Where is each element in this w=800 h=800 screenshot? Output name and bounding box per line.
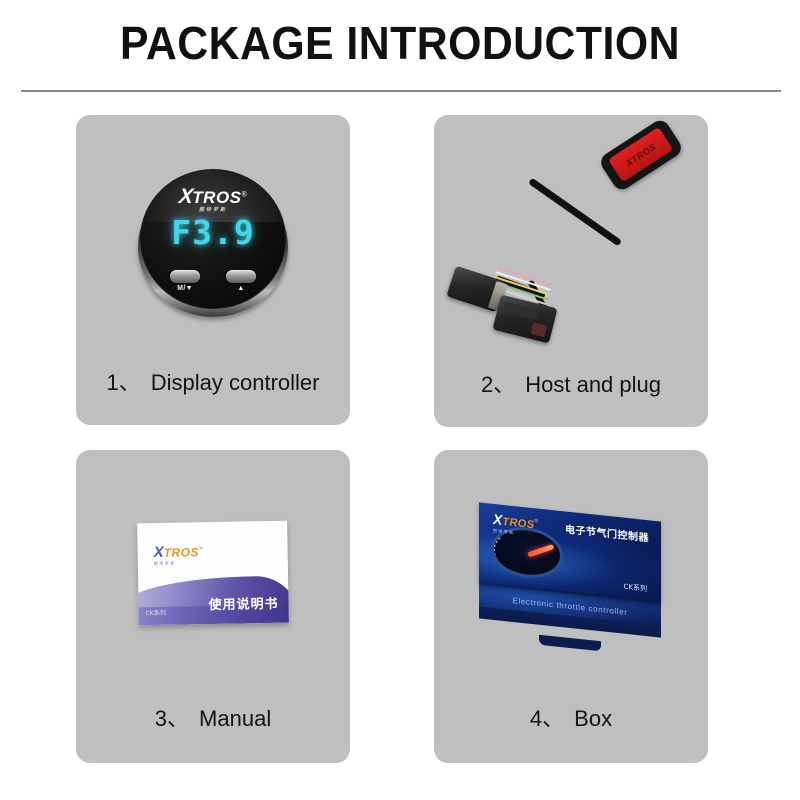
manual-brand-logo: XTROS® 图特罗斯 (154, 544, 203, 566)
package-item-2-caption: 2、Host and plug (434, 367, 708, 399)
page-header: PACKAGE INTRODUCTION (0, 0, 800, 92)
manual-series-code: CK系列 (146, 608, 166, 617)
display-controller-photo: XTROS® 图特罗斯 F3.9 M/▼ (76, 115, 350, 355)
package-item-2-host-and-plug: XTROS 2、Host and plug (434, 115, 708, 427)
mode-down-button-label: M/▼ (170, 285, 200, 292)
brand-name: TROS (192, 188, 241, 207)
package-item-1-caption: 1、Display controller (76, 365, 350, 397)
controller-brand-logo: XTROS® 图特罗斯 (141, 186, 285, 215)
manual-brand-subtitle: 图特罗斯 (154, 561, 203, 566)
package-item-3-number: 3、 (155, 706, 189, 731)
up-button-cap (226, 270, 256, 283)
mode-down-button-cap (170, 270, 200, 283)
mode-down-button[interactable]: M/▼ (170, 270, 200, 292)
package-item-3-label: Manual (199, 706, 271, 731)
package-item-2-label: Host and plug (525, 372, 661, 397)
dial-face: XTROS® 图特罗斯 F3.9 M/▼ (140, 169, 286, 309)
manual-brand-x-mark: X (153, 544, 163, 561)
package-item-1-display-controller: XTROS® 图特罗斯 F3.9 M/▼ (76, 115, 350, 425)
manual-booklet: XTROS® 图特罗斯 使用说明书 CK系列 (137, 521, 289, 626)
host-module-brand: XTROS (624, 141, 658, 168)
main-cable (528, 178, 622, 247)
retail-box-photo: Electronic throttle controller (434, 450, 708, 690)
connector-plug-b-ridge (503, 302, 538, 320)
title-divider (21, 90, 781, 92)
registered-mark-icon: ® (242, 191, 248, 198)
package-item-4-label: Box (574, 706, 612, 731)
package-item-3-caption: 3、Manual (76, 701, 350, 733)
package-item-1-label: Display controller (151, 370, 320, 395)
box-brand-x-mark: X (493, 511, 502, 528)
manual-title-chinese: 使用说明书 (208, 593, 278, 613)
host-and-plug-photo: XTROS (434, 115, 708, 355)
package-item-3-manual: XTROS® 图特罗斯 使用说明书 CK系列 3、Manual (76, 450, 350, 763)
retail-box-flap (539, 635, 601, 652)
manual-brand-name: TROS (164, 545, 200, 560)
host-module-label: XTROS (608, 127, 673, 182)
package-item-4-box: Electronic throttle controller (434, 450, 708, 763)
retail-box: Electronic throttle controller (473, 512, 669, 642)
controller-buttons: M/▼ ▲ (141, 270, 285, 292)
connector-plug-b-slot (531, 322, 547, 337)
box-registered-mark-icon: ® (535, 518, 539, 524)
manual-registered-mark-icon: ® (199, 546, 203, 552)
package-item-1-number: 1、 (107, 370, 141, 395)
manual-photo: XTROS® 图特罗斯 使用说明书 CK系列 (76, 450, 350, 690)
package-item-4-number: 4、 (530, 706, 564, 731)
page-title: PACKAGE INTRODUCTION (28, 16, 772, 70)
package-introduction-page: PACKAGE INTRODUCTION XTROS® 图特罗斯 (0, 0, 800, 800)
package-items-grid: XTROS® 图特罗斯 F3.9 M/▼ (76, 115, 728, 763)
controller-display-readout: F3.9 (141, 213, 285, 252)
up-button-label: ▲ (226, 285, 256, 292)
controller-dial: XTROS® 图特罗斯 F3.9 M/▼ (136, 167, 290, 319)
host-module: XTROS (597, 117, 684, 193)
package-item-4-caption: 4、Box (434, 701, 708, 733)
brand-x-mark: X (178, 186, 195, 207)
package-item-2-number: 2、 (481, 372, 515, 397)
up-button[interactable]: ▲ (226, 270, 256, 292)
